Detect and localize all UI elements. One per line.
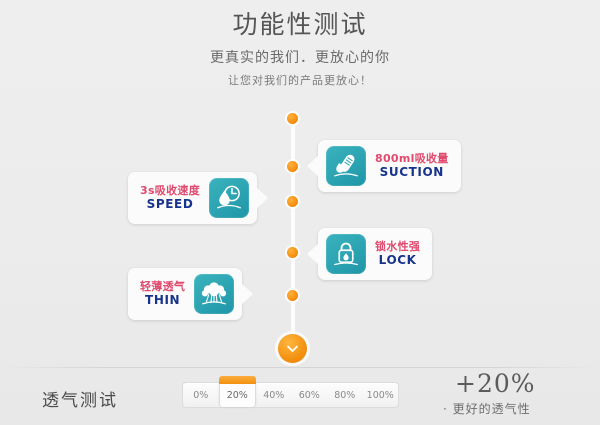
feature-card-lock[interactable]: 锁水性强 LOCK xyxy=(318,228,432,280)
feature-card-label-cn: 800ml吸收量 xyxy=(375,152,449,166)
scale-active-marker xyxy=(219,376,257,384)
card-pointer xyxy=(256,187,268,209)
feature-card-label-cn: 锁水性强 xyxy=(375,240,420,254)
breathability-test-label: 透气测试 xyxy=(42,386,118,411)
header-block: 功能性测试 更真实的我们．更放心的你 让您对我们的产品更放心！ xyxy=(0,10,600,88)
section-divider xyxy=(0,367,600,368)
feature-card-thin[interactable]: 轻薄透气 THIN xyxy=(128,268,242,320)
scale-tick-1[interactable]: 20% xyxy=(219,383,257,407)
feature-card-label-en: LOCK xyxy=(379,253,417,268)
poster-canvas: 功能性测试 更真实的我们．更放心的你 让您对我们的产品更放心！ 3s吸收速度 S… xyxy=(0,0,600,425)
breathability-scale[interactable]: 0% 20% 40% 60% 80% 100% xyxy=(182,382,399,408)
clock-droplet-icon xyxy=(209,178,249,218)
feature-card-text: 轻薄透气 THIN xyxy=(140,280,185,309)
feature-card-label-en: SUCTION xyxy=(380,165,444,180)
timeline-dot xyxy=(287,290,298,301)
feature-card-suction[interactable]: 800ml吸收量 SUCTION xyxy=(318,140,461,192)
scale-tick-5[interactable]: 100% xyxy=(363,383,399,407)
page-subtitle-secondary: 让您对我们的产品更放心！ xyxy=(0,72,600,88)
scale-tick-1-label: 20% xyxy=(227,390,248,401)
feature-card-text: 800ml吸收量 SUCTION xyxy=(375,152,449,181)
card-pointer xyxy=(307,243,319,265)
feature-card-label-cn: 轻薄透气 xyxy=(140,280,185,294)
scale-tick-2[interactable]: 40% xyxy=(256,383,292,407)
timeline-track xyxy=(291,118,295,350)
chevron-down-icon xyxy=(278,334,307,363)
test-tube-icon xyxy=(326,146,366,186)
page-subtitle-primary: 更真实的我们．更放心的你 xyxy=(0,47,600,67)
scale-tick-4[interactable]: 80% xyxy=(327,383,363,407)
timeline-dot xyxy=(287,113,298,124)
card-pointer xyxy=(241,283,253,305)
feature-card-label-en: THIN xyxy=(145,293,180,308)
feature-card-label-cn: 3s吸收速度 xyxy=(140,184,200,198)
padlock-droplet-icon xyxy=(326,234,366,274)
feature-card-text: 3s吸收速度 SPEED xyxy=(140,184,200,213)
scale-tick-3[interactable]: 60% xyxy=(292,383,328,407)
timeline-dot xyxy=(287,161,298,172)
scale-tick-0[interactable]: 0% xyxy=(183,383,219,407)
feature-card-speed[interactable]: 3s吸收速度 SPEED xyxy=(128,172,257,224)
page-title: 功能性测试 xyxy=(0,10,600,40)
timeline-dot xyxy=(287,196,298,207)
feature-card-text: 锁水性强 LOCK xyxy=(375,240,420,269)
tree-airflow-icon xyxy=(194,274,234,314)
result-note: · 更好的透气性 xyxy=(443,400,531,417)
timeline-dot xyxy=(287,247,298,258)
card-pointer xyxy=(307,155,319,177)
feature-card-label-en: SPEED xyxy=(147,197,194,212)
result-value: +20% xyxy=(455,369,536,398)
